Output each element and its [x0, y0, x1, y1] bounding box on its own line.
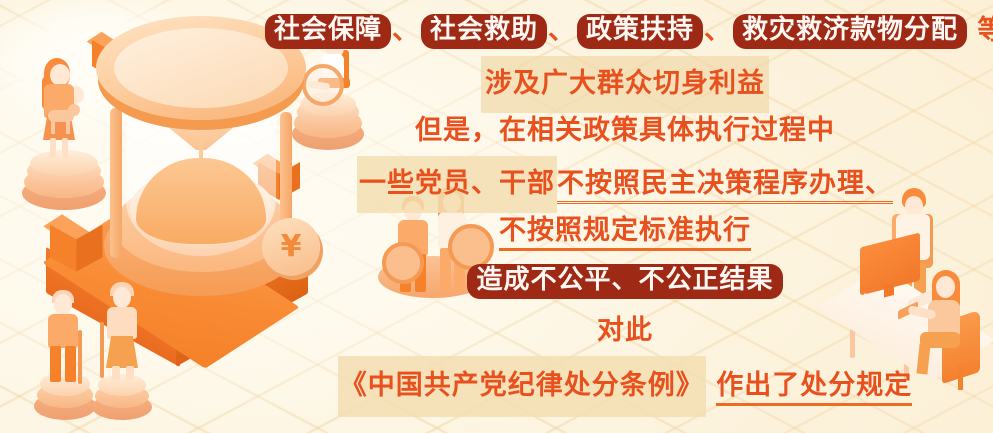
text-line-8-highlight-regulation-title: 《中国共产党纪律处分条例》: [338, 356, 706, 417]
text-line-2-highlight: 涉及广大群众切身利益: [481, 56, 769, 113]
highlight-pill-social-security: 社会保障: [265, 14, 391, 49]
coin-stack-icon: [92, 374, 152, 420]
elderly-woman-figure: [100, 282, 146, 380]
text-line-2: 涉及广大群众切身利益: [265, 56, 985, 106]
text-line-8-underlined: 作出了处分规定: [716, 372, 912, 406]
highlight-pill-disaster-relief-funds: 救灾救济款物分配: [733, 14, 967, 49]
text-line-3-content: 但是，在相关政策具体执行过程中: [415, 115, 835, 146]
text-line-7-content: 对此: [597, 315, 653, 346]
separator-mark: 、: [391, 15, 421, 46]
text-line-3: 但是，在相关政策具体执行过程中: [265, 106, 985, 156]
dog-figure: [48, 104, 78, 134]
elderly-man-figure: [42, 290, 86, 382]
separator-mark: 、: [547, 15, 577, 46]
text-line-1-tail: 等事项: [977, 15, 993, 46]
text-line-7: 对此: [265, 306, 985, 356]
highlight-pill-unfair-result: 造成不公平、不公正结果: [467, 264, 782, 299]
text-line-6: 造成不公平、不公正结果: [265, 256, 985, 306]
text-line-5: 不按照规定标准执行: [265, 206, 985, 256]
highlight-pill-policy-support: 政策扶持: [577, 14, 703, 49]
text-line-4-highlight: 一些党员、干部: [357, 156, 557, 213]
separator-mark: 、: [703, 15, 733, 46]
text-line-5-underlined: 不按照规定标准执行: [499, 217, 751, 251]
poster-canvas: ¥ 社会保障、社: [0, 0, 993, 433]
text-line-4-underlined: 不按照民主决策程序办理、: [557, 170, 893, 204]
text-line-4: 一些党员、干部不按照民主决策程序办理、: [265, 156, 985, 206]
text-line-8: 《中国共产党纪律处分条例》 作出了处分规定: [265, 356, 985, 410]
message-text-block: 社会保障、社会救助、政策扶持、救灾救济款物分配 等事项 涉及广大群众切身利益 但…: [265, 6, 985, 410]
text-line-1: 社会保障、社会救助、政策扶持、救灾救济款物分配 等事项: [265, 6, 985, 56]
highlight-pill-social-assistance: 社会救助: [421, 14, 547, 49]
